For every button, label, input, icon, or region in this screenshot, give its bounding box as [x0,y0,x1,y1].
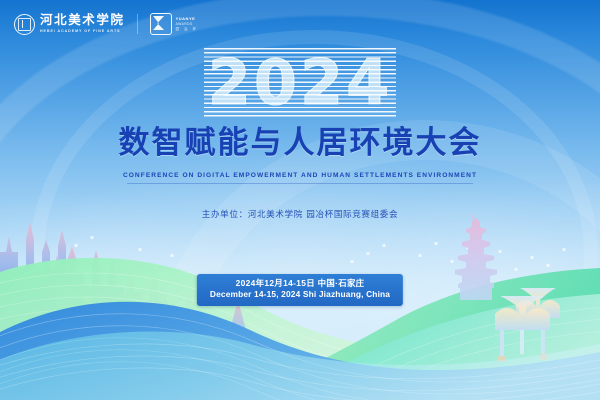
subtitle-rule [127,183,473,184]
award-name-cn: 园 冶 杯 [176,28,199,31]
logo-divider [137,14,138,34]
header-logos: 河北美术学院 HEBEI ACADEMY OF FINE ARTS YUANYE… [14,13,198,35]
award-name-line2: AWARDS [176,23,199,26]
year-text: 2024 [208,46,393,119]
academy-name-en: HEBEI ACADEMY OF FINE ARTS [40,30,125,34]
date-cn: 2024年12月14-15日 中国·石家庄 [210,278,390,289]
organizer-line: 主办单位：河北美术学院 园冶杯国际竞赛组委会 [0,208,600,220]
academy-name-cn: 河北美术学院 [40,14,125,27]
logo-hebei-academy[interactable]: 河北美术学院 HEBEI ACADEMY OF FINE ARTS [14,14,125,35]
year-block: 2024 [0,52,600,114]
page-subtitle-en: CONFERENCE ON DIGITAL EMPOWERMENT AND HU… [0,172,600,179]
page-title: 数智赋能与人居环境大会 [0,126,600,161]
academy-seal-icon [14,14,35,35]
date-en: December 14-15, 2024 Shi Jiazhuang, Chin… [210,289,390,300]
yuanye-mark-icon [150,13,172,35]
date-location-badge[interactable]: 2024年12月14-15日 中国·石家庄 December 14-15, 20… [197,274,403,306]
conference-poster: 河北美术学院 HEBEI ACADEMY OF FINE ARTS YUANYE… [0,0,600,400]
year-2024: 2024 [208,52,393,114]
logo-yuanye-awards[interactable]: YUANYE AWARDS 园 冶 杯 [150,13,199,35]
award-name-line1: YUANYE [176,17,199,21]
